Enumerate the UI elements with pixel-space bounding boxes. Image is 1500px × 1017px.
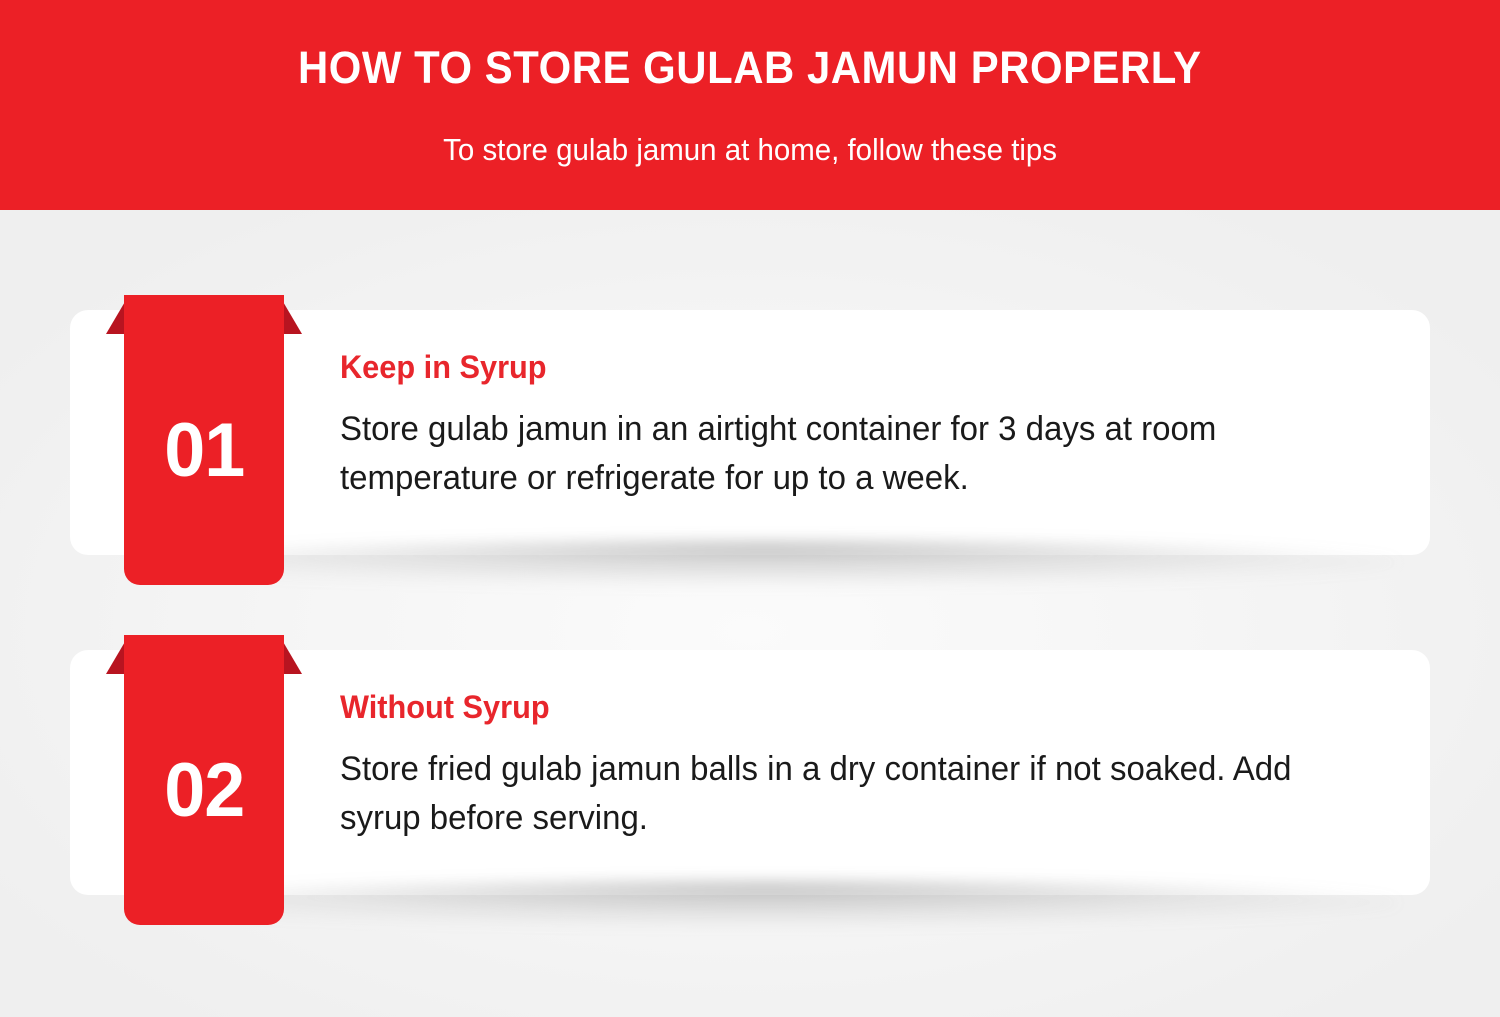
step-heading: Keep in Syrup [340,351,1329,383]
header-band: HOW TO STORE GULAB JAMUN PROPERLY To sto… [0,0,1500,210]
ribbon-fold-right-icon [282,640,302,674]
ribbon-fold-right-icon [282,300,302,334]
ribbon-body: 02 [124,635,284,925]
step-description: Store fried gulab jamun balls in a dry c… [340,745,1339,843]
step-number: 02 [164,753,244,829]
step-number: 01 [164,413,244,489]
step-description: Store gulab jamun in an airtight contain… [340,405,1339,503]
ribbon-body: 01 [124,295,284,585]
step-text-group: Keep in Syrup Store gulab jamun in an ai… [340,351,1370,503]
steps-list: 01 Keep in Syrup Store gulab jamun in an… [0,210,1500,1017]
ribbon-fold-left-icon [106,300,126,334]
page-subtitle: To store gulab jamun at home, follow the… [443,134,1057,165]
step-heading: Without Syrup [340,691,1329,723]
page-title: HOW TO STORE GULAB JAMUN PROPERLY [298,45,1202,90]
step-text-group: Without Syrup Store fried gulab jamun ba… [340,691,1370,843]
ribbon-fold-left-icon [106,640,126,674]
step-number-ribbon: 01 [106,295,302,585]
step-number-ribbon: 02 [106,635,302,925]
infographic-canvas: HOW TO STORE GULAB JAMUN PROPERLY To sto… [0,0,1500,1017]
